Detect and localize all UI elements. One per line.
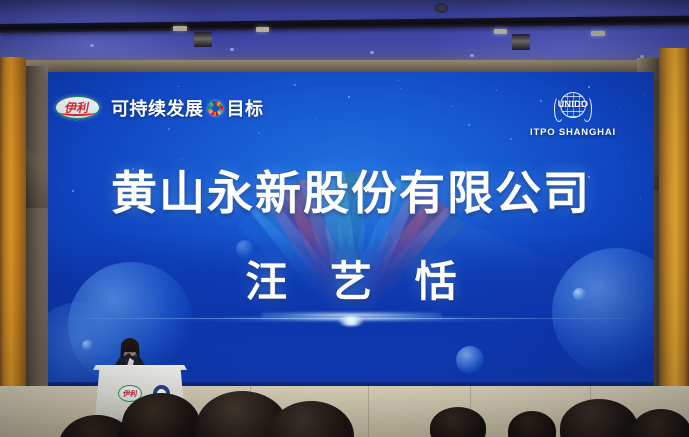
background-star xyxy=(510,138,512,140)
right-wood-column xyxy=(659,48,689,437)
ceiling-light-dot xyxy=(470,54,474,57)
podium-yili-logo-text: 伊利 xyxy=(122,389,138,399)
wall-panel-seam xyxy=(368,386,369,437)
ceiling-light-dot xyxy=(230,48,234,51)
left-wood-column xyxy=(0,57,26,437)
ceiling-spotlight-icon xyxy=(494,29,507,34)
light-streak-core xyxy=(338,316,364,326)
sdg-title-prefix: 可持续发展 xyxy=(111,95,204,121)
background-star xyxy=(398,80,399,81)
unido-subtitle-text: ITPO SHANGHAI xyxy=(518,127,628,138)
sdg-campaign-title: 可持续发展 目标 xyxy=(111,95,264,121)
sdg-color-wheel-icon xyxy=(208,101,223,116)
unido-name-text: UNIDO xyxy=(553,99,593,109)
left-inner-wall-panel xyxy=(26,66,48,437)
ceiling-vent-icon xyxy=(435,3,448,13)
ceiling-light-dot xyxy=(90,44,94,47)
yili-logo-arc xyxy=(59,109,96,116)
ceiling-spotlight-icon xyxy=(173,26,187,31)
slide-presenter-name: 汪 艺 恬 xyxy=(48,248,654,309)
background-star xyxy=(294,84,296,86)
background-star xyxy=(178,86,179,87)
conference-photo-scene: 伊利 可持续发展 目标 UNIDO ITPO SHANGHAI 黄山永新股份有限… xyxy=(0,0,689,437)
background-sphere xyxy=(82,340,93,351)
screen-header-row: 伊利 可持续发展 目标 UNIDO ITPO SHANGHAI xyxy=(48,90,654,136)
background-sphere xyxy=(456,346,484,374)
ceiling-spotlight-icon xyxy=(591,31,605,36)
unido-globe-laurel-icon: UNIDO xyxy=(553,90,593,126)
ceiling-light-dot xyxy=(370,51,374,54)
ceiling-recess-fixture xyxy=(194,32,212,47)
slide-company-title: 黄山永新股份有限公司 xyxy=(48,157,654,223)
unido-logo-block: UNIDO ITPO SHANGHAI xyxy=(518,90,628,138)
background-star xyxy=(588,86,590,88)
yili-brand-logo-icon: 伊利 xyxy=(55,96,100,119)
ceiling-spotlight-icon xyxy=(256,27,269,32)
ceiling-recess-fixture xyxy=(512,34,530,50)
sdg-title-suffix: 目标 xyxy=(227,95,264,121)
